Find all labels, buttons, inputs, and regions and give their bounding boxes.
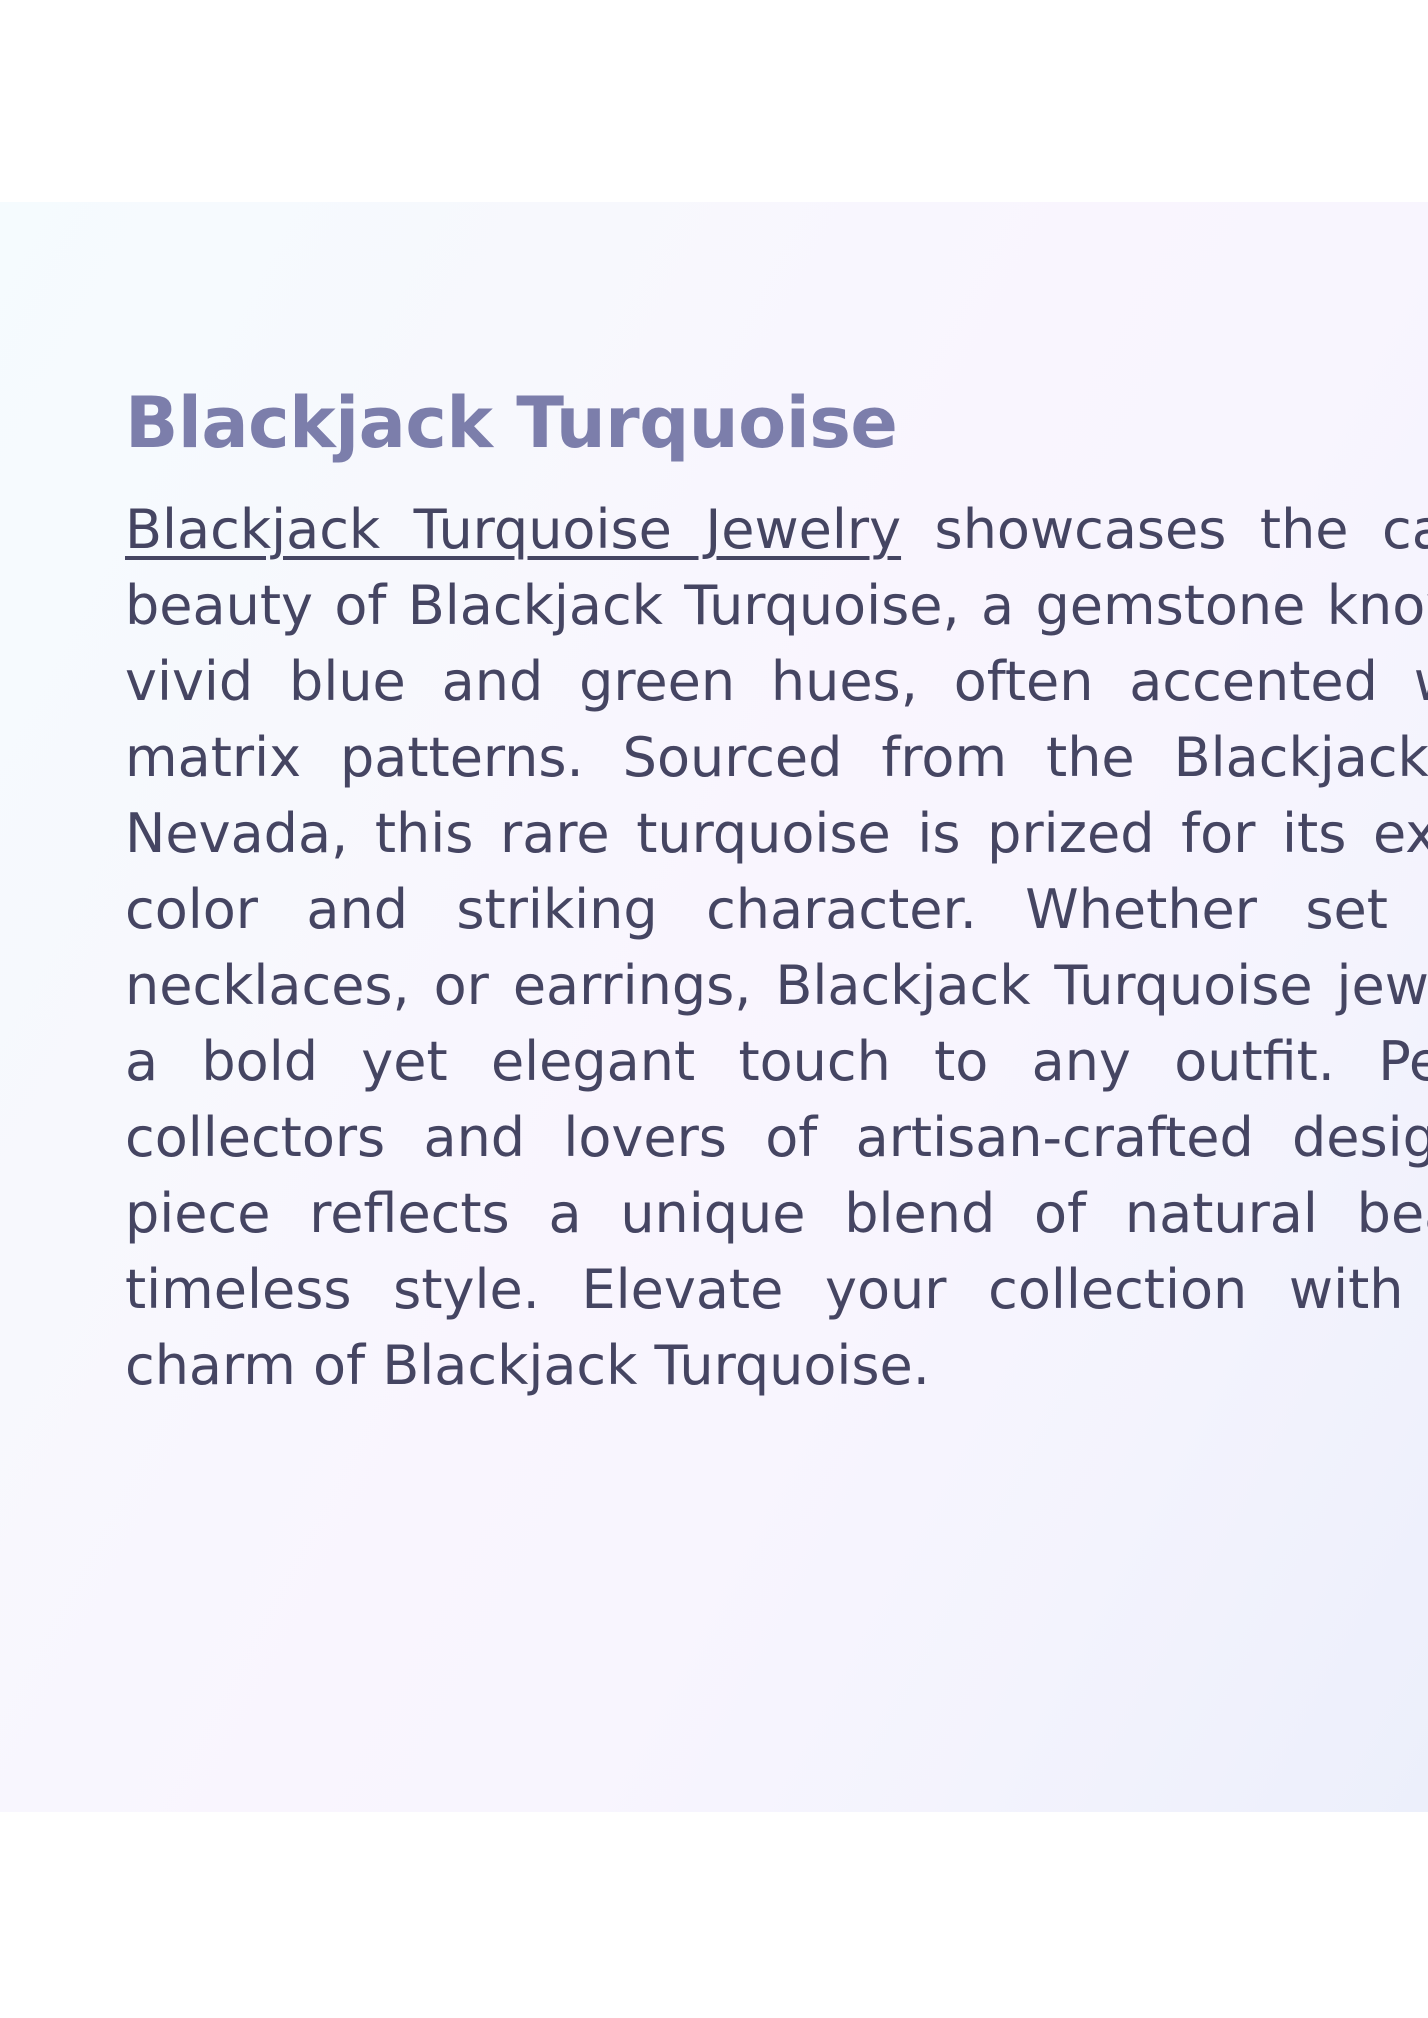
article-body-text: showcases the captivating beauty of Blac… <box>125 498 1428 1397</box>
article-body-paragraph: Blackjack Turquoise Jewelry showcases th… <box>125 492 1428 1404</box>
blackjack-turquoise-jewelry-link[interactable]: Blackjack Turquoise Jewelry <box>125 498 901 561</box>
page-root: Blackjack Turquoise Blackjack Turquoise … <box>0 0 1428 2018</box>
page-title: Blackjack Turquoise <box>125 388 897 459</box>
content-card: Blackjack Turquoise Blackjack Turquoise … <box>0 202 1428 1812</box>
